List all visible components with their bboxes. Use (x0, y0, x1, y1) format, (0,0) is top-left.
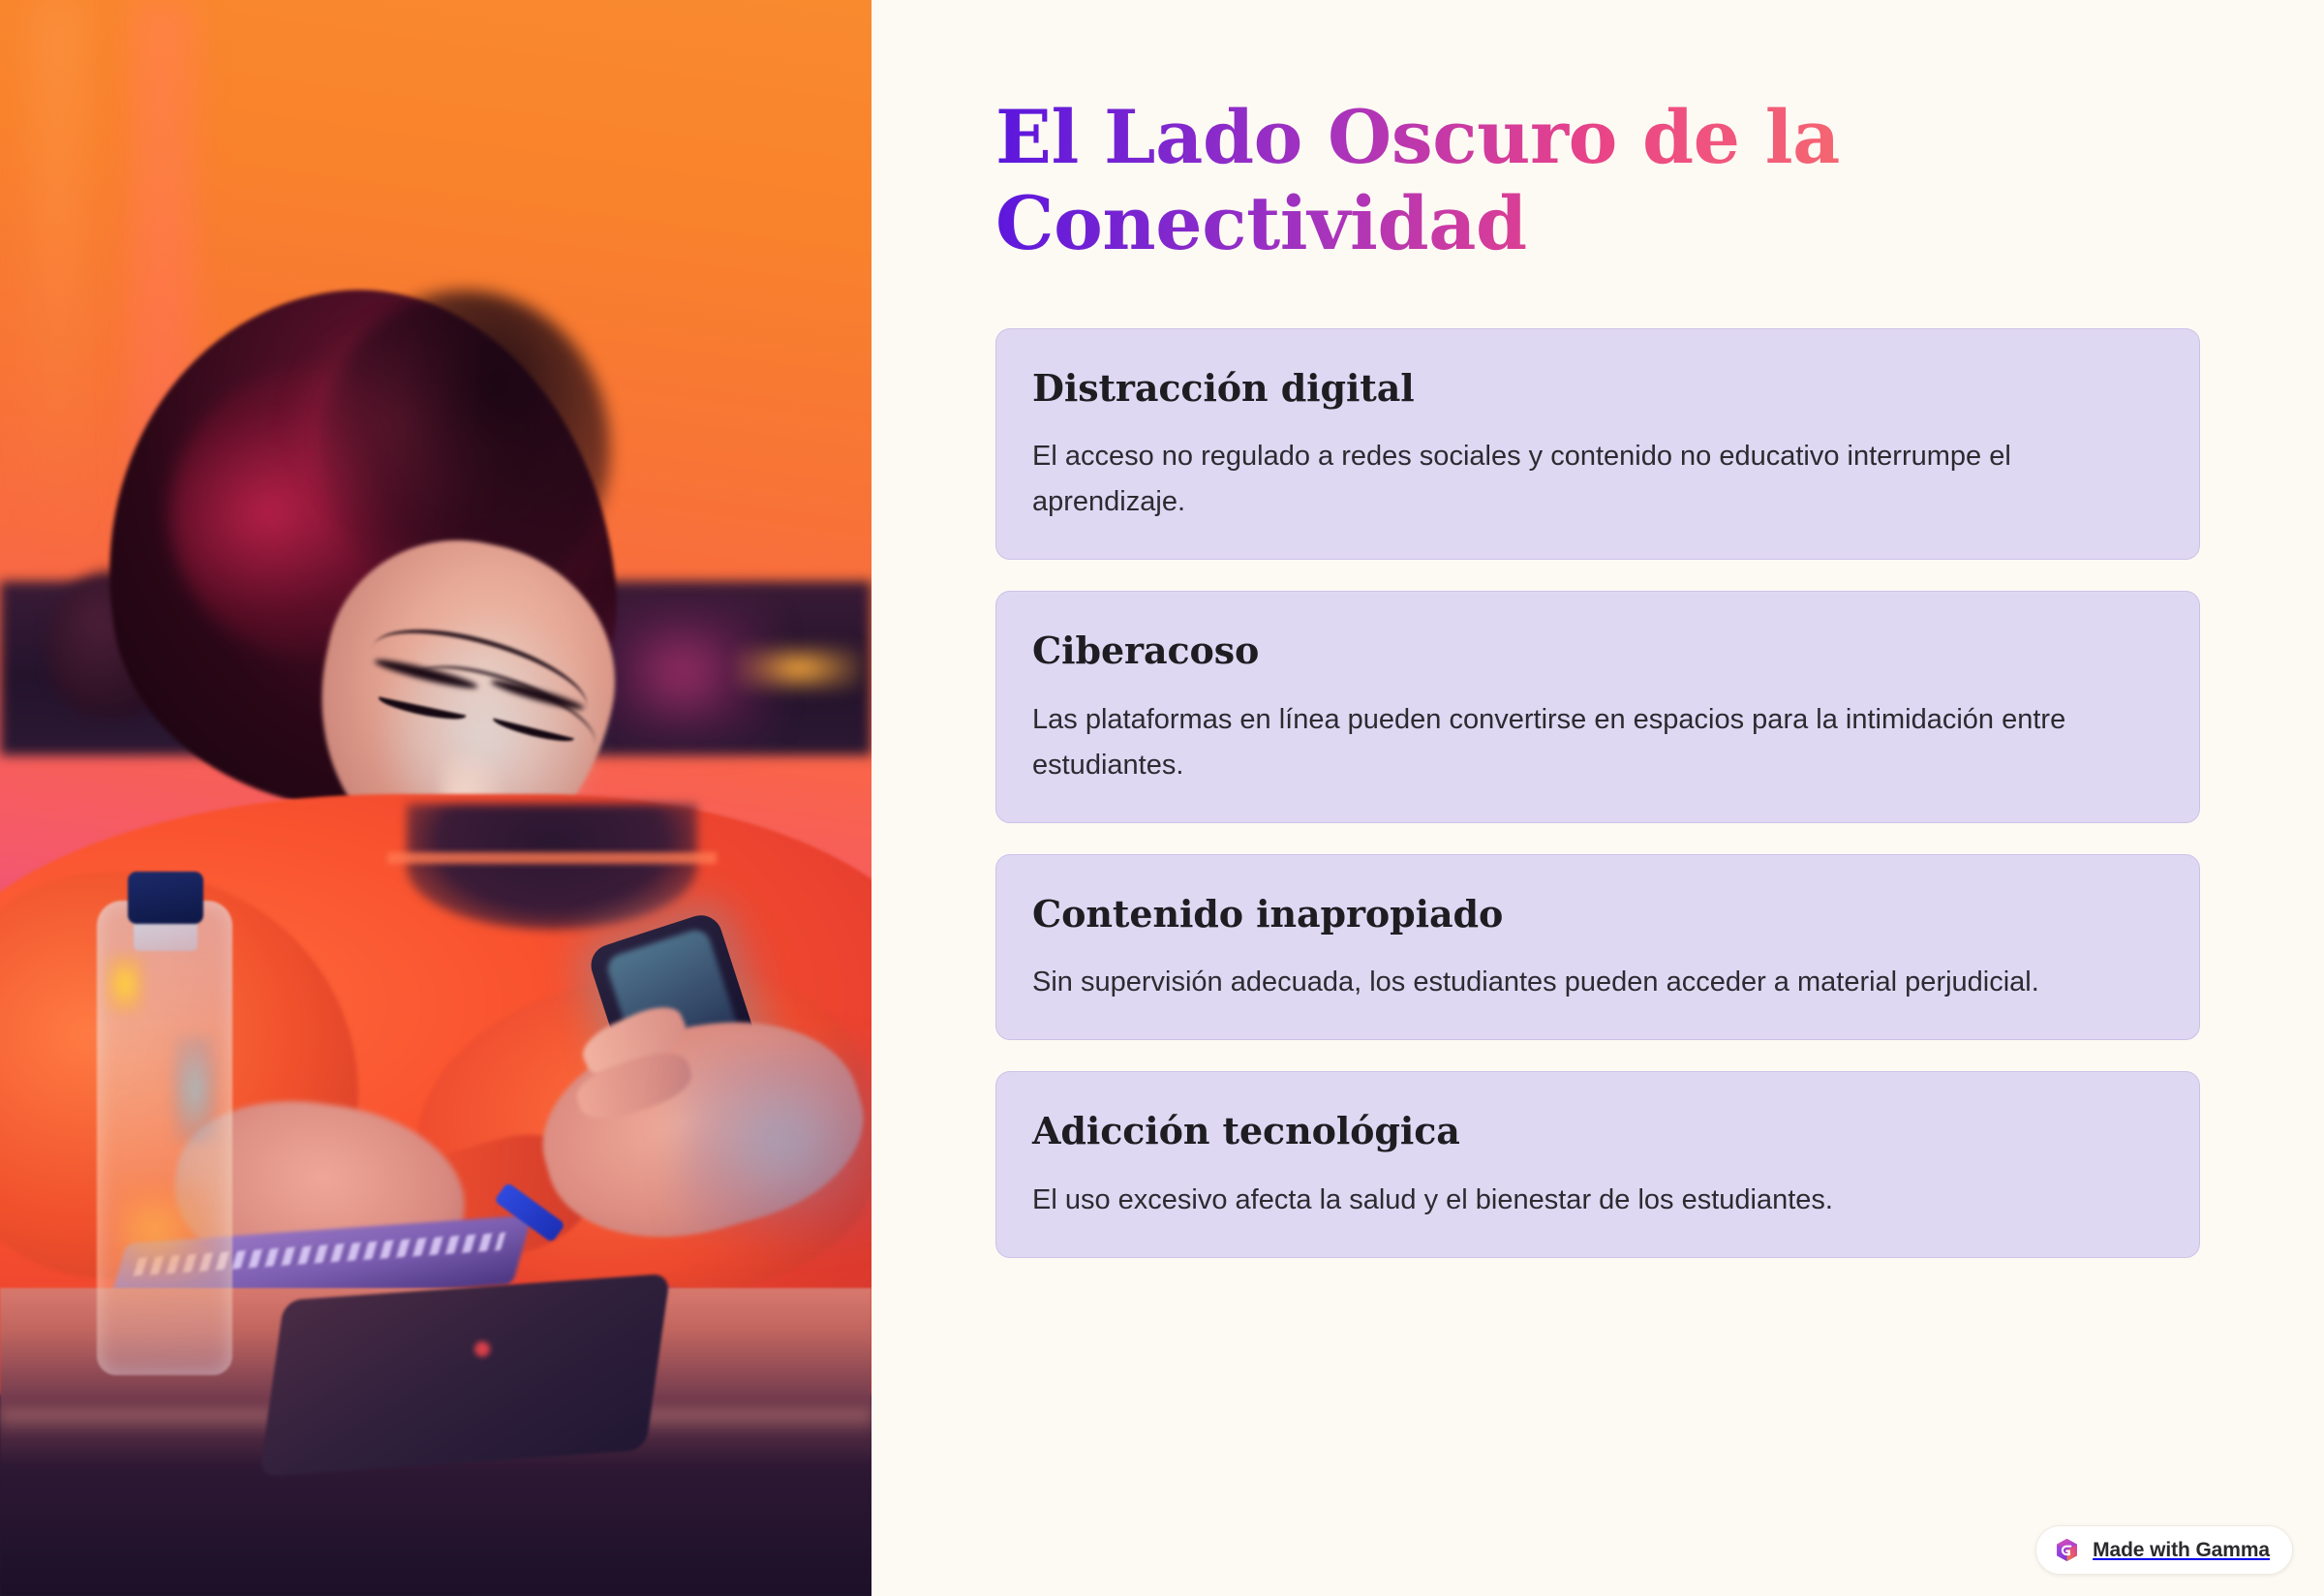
risk-card-title: Ciberacoso (1032, 628, 2163, 674)
photo-sweatshirt-collar-rib (387, 852, 717, 910)
photo-tablet-indicator (474, 1341, 490, 1357)
risk-card-adiccion-tecnologica[interactable]: Adicción tecnológica El uso excesivo afe… (995, 1071, 2200, 1257)
risk-card-list: Distracción digital El acceso no regulad… (995, 328, 2200, 1258)
risk-card-ciberacoso[interactable]: Ciberacoso Las plataformas en línea pued… (995, 591, 2200, 822)
risk-card-body: El uso excesivo afecta la salud y el bie… (1032, 1178, 2088, 1223)
risk-card-title: Contenido inapropiado (1032, 891, 2163, 937)
photo-neon-blue-glow (678, 1046, 871, 1240)
photo-water-bottle-cap (128, 872, 203, 924)
photo-bottle-blue-glow (172, 1036, 217, 1143)
risk-card-body: Las plataformas en línea pueden converti… (1032, 697, 2088, 788)
made-with-gamma-label: Made with Gamma (2093, 1539, 2270, 1562)
risk-card-title: Distracción digital (1032, 365, 2163, 412)
risk-card-body: Sin supervisión adecuada, los estudiante… (1032, 960, 2088, 1005)
photo-tablet (260, 1274, 671, 1477)
made-with-gamma-badge[interactable]: Made with Gamma (2035, 1525, 2293, 1575)
photo-bottle-orange-glow (116, 1177, 213, 1283)
gamma-cube-icon (2054, 1537, 2080, 1563)
risk-card-distraccion-digital[interactable]: Distracción digital El acceso no regulad… (995, 328, 2200, 560)
photo-bottle-yellow-glow (105, 954, 145, 1014)
slide-content: El Lado Oscuro de la Conectividad Distra… (871, 0, 2324, 1596)
photo-wall-light-stripe-secondary (39, 0, 77, 542)
photo-neon-pink-glow (591, 600, 775, 746)
slide: El Lado Oscuro de la Conectividad Distra… (0, 0, 2324, 1596)
risk-card-title: Adicción tecnológica (1032, 1108, 2163, 1154)
risk-card-body: El acceso no regulado a redes sociales y… (1032, 434, 2088, 525)
risk-card-contenido-inapropiado[interactable]: Contenido inapropiado Sin supervisión ad… (995, 854, 2200, 1040)
page-title: El Lado Oscuro de la Conectividad (995, 95, 1993, 267)
slide-photo (0, 0, 871, 1596)
